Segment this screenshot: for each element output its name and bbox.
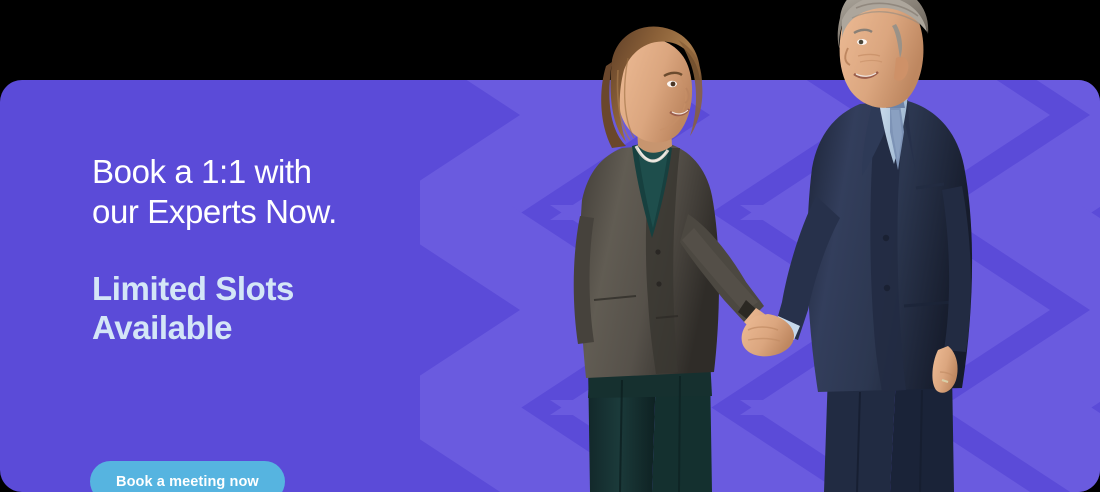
- book-a-meeting-button[interactable]: Book a meeting now: [90, 461, 285, 492]
- handshake-photo: Businesswoman and businessman shaking ha…: [560, 0, 1040, 492]
- cta-copy-column: Book a 1:1 with our Experts Now. Limited…: [92, 152, 472, 348]
- man-figure: [742, 0, 972, 492]
- cta-headline: Book a 1:1 with our Experts Now.: [92, 152, 472, 233]
- screenshot-root: Book a 1:1 with our Experts Now. Limited…: [0, 0, 1100, 492]
- woman-figure: [574, 27, 784, 492]
- cta-subheadline: Limited Slots Available: [92, 233, 472, 348]
